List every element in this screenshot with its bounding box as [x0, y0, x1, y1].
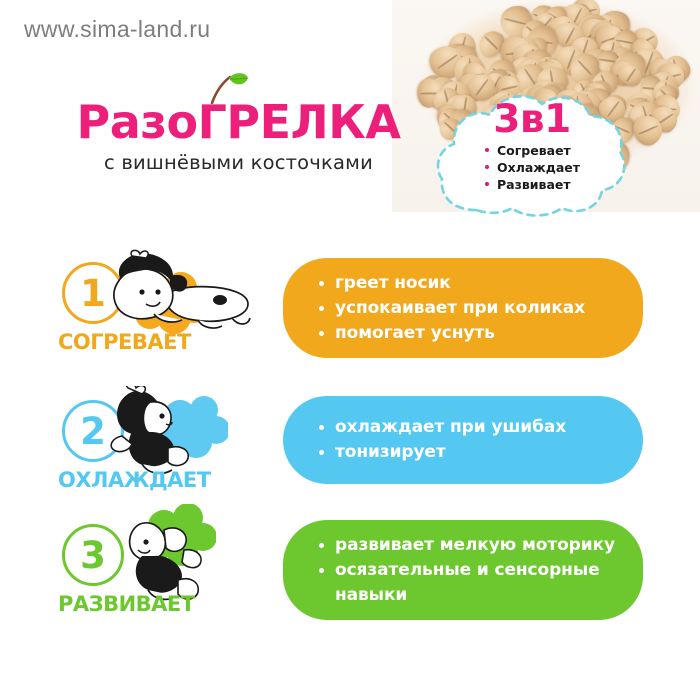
benefit-item: развивает мелкую моторику: [317, 533, 621, 558]
brand-name: РазоГРЕЛКА: [56, 96, 421, 148]
step-label-2: ОХЛАЖДАЕТ: [58, 468, 263, 492]
brand-logo: РазоГРЕЛКА с вишнёвыми косточками: [56, 96, 421, 175]
step-label-3: РАЗВИВАЕТ: [58, 592, 263, 616]
benefit-item: охлаждает при ушибах: [317, 415, 621, 440]
benefit-list-cools: охлаждает при ушибах тонизирует: [317, 415, 621, 465]
benefit-row-cools: 2 ОХЛАЖДАЕТ охлаждает при ушиба: [0, 388, 700, 503]
benefit-panel-warms: греет носик успокаивает при коликах помо…: [283, 258, 643, 358]
benefit-list-develops: развивает мелкую моторику осязательные и…: [317, 533, 621, 608]
step-label-1: СОГРЕВАЕТ: [58, 330, 263, 354]
benefit-row-develops: 3 РАЗВИВАЕТ развивает мелкую моторику: [0, 512, 700, 637]
benefit-item: помогает уснуть: [317, 321, 621, 346]
badge-list-item: Развивает: [484, 176, 580, 193]
badge-content: 3в1 Согревает Охлаждает Развивает: [432, 86, 632, 222]
badge-feature-list: Согревает Охлаждает Развивает: [484, 142, 580, 193]
benefit-item: осязательные и сенсорные навыки: [317, 558, 621, 608]
benefit-item: греет носик: [317, 271, 621, 296]
row-2-icon-group: 2 ОХЛАЖДАЕТ: [58, 388, 263, 503]
benefit-panel-develops: развивает мелкую моторику осязательные и…: [283, 520, 643, 620]
brand-tagline: с вишнёвыми косточками: [56, 151, 421, 175]
brand-name-text: РазоГРЕЛКА: [77, 95, 401, 149]
benefit-item: успокаивает при коликах: [317, 296, 621, 321]
benefit-panel-cools: охлаждает при ушибах тонизирует: [283, 396, 643, 484]
benefit-list-warms: греет носик успокаивает при коликах помо…: [317, 271, 621, 346]
benefit-item: тонизирует: [317, 440, 621, 465]
row-3-icon-group: 3 РАЗВИВАЕТ: [58, 512, 263, 637]
benefit-row-warms: 1 СОГРЕВА: [0, 250, 700, 375]
promo-banner: www.sima-land.ru РазоГРЕЛКА с вишнёвыми …: [0, 0, 700, 700]
badge-list-item: Согревает: [484, 142, 580, 159]
badge-list-item: Охлаждает: [484, 159, 580, 176]
badge-title: 3в1: [493, 100, 570, 140]
watermark-url: www.sima-land.ru: [24, 16, 210, 43]
three-in-one-badge: 3в1 Согревает Охлаждает Развивает: [432, 86, 632, 222]
row-1-icon-group: 1 СОГРЕВА: [58, 250, 263, 375]
